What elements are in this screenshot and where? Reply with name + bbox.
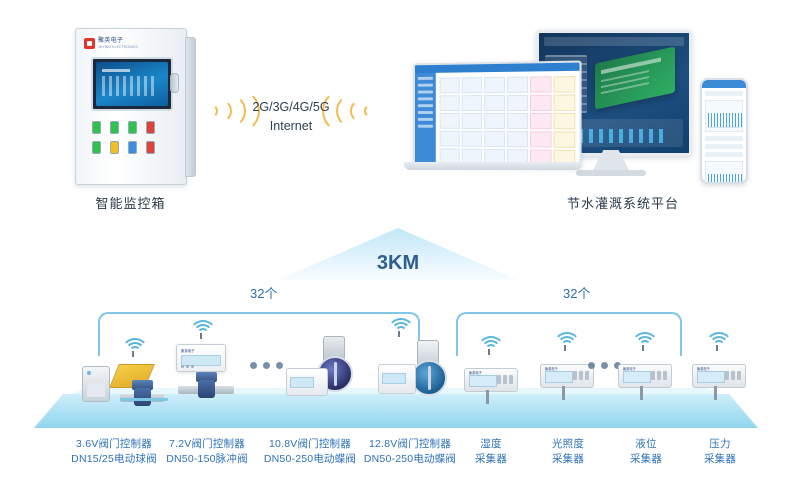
laptop-screen [413, 60, 581, 167]
diagram-canvas: 聚英电子 JUYING ELECTRONICS 智能监控箱 2G/3G [0, 0, 796, 484]
device-pressure-collector: 聚英电子 [692, 348, 748, 398]
phone-app-header [702, 80, 746, 88]
wireless-signal-icon [704, 330, 730, 348]
network-label-line1: 2G/3G/4G/5G [196, 98, 386, 117]
caption-level-collector: 液位 采集器 [611, 437, 681, 467]
controller-enclosure [378, 364, 416, 394]
indicator-led-green [110, 121, 119, 134]
laptop [404, 62, 582, 172]
wireless-signal-icon [476, 334, 502, 352]
cabinet-brand: 聚英电子 JUYING ELECTRONICS [84, 38, 138, 49]
wireless-signal-icon [120, 336, 146, 354]
laptop-app-header [415, 63, 580, 74]
indicator-led-blue [128, 141, 137, 154]
controller-enclosure [82, 366, 110, 402]
phone-app-body [705, 91, 743, 178]
phone-trend-chart [705, 161, 743, 184]
valve-group-count: 32个 [245, 283, 282, 302]
controller-enclosure [286, 368, 328, 396]
more-devices-ellipsis-left [250, 362, 283, 369]
monitor-base [576, 170, 646, 176]
caption-humidity-collector: 湿度 采集器 [456, 437, 526, 467]
laptop-data-grid [438, 74, 578, 163]
wireless-signal-icon [630, 330, 656, 348]
hmi-screen-content [96, 62, 168, 106]
indicator-led-yellow [110, 141, 119, 154]
device-valve-controller-12v8 [378, 330, 450, 398]
device-level-collector: 聚英电子 [618, 348, 674, 398]
caption-illuminance-collector: 光照度 采集器 [533, 437, 603, 467]
sensor-group-count: 32个 [558, 283, 595, 302]
caption-valve-controller-7v2: 7.2V阀门控制器 DN50-150脉冲阀 [155, 437, 259, 467]
more-devices-ellipsis-right [588, 362, 621, 369]
sensor-unit: 聚英电子 [540, 358, 592, 388]
cabinet-caption: 智能监控箱 [48, 193, 213, 212]
smart-control-cabinet: 聚英电子 JUYING ELECTRONICS [75, 28, 187, 185]
platform-caption: 节水灌溉系统平台 [498, 193, 748, 212]
wireless-signal-icon [552, 330, 578, 348]
cabinet-indicator-panel [92, 121, 170, 154]
phone-trend-chart [705, 100, 743, 132]
caption-valve-controller-12v8: 12.8V阀门控制器 DN50-250电动蝶阀 [358, 437, 462, 467]
dashboard-header-bar [544, 37, 684, 46]
brand-name: 聚英电子 [98, 38, 138, 45]
device-valve-controller-3v6 [78, 352, 174, 398]
wireless-link-group: 2G/3G/4G/5G Internet [196, 78, 386, 150]
sensor-unit: 聚英电子 [618, 358, 670, 388]
caption-pressure-collector: 压力 采集器 [685, 437, 755, 467]
controller-enclosure: 聚英电子 [176, 344, 226, 372]
indicator-led-green [128, 121, 137, 134]
wireless-signal-icon [188, 318, 214, 336]
indicator-led-red [146, 141, 155, 154]
caption-valve-controller-3v6: 3.6V阀门控制器 DN15/25电动球阀 [62, 437, 166, 467]
device-humidity-collector: 聚英电子 [464, 350, 520, 398]
coverage-range-label: 3KM [278, 252, 518, 275]
indicator-led-green [92, 141, 101, 154]
network-label-line2: Internet [196, 117, 386, 136]
sensor-unit: 聚英电子 [692, 358, 744, 388]
laptop-app-sidebar [415, 73, 436, 163]
device-illuminance-collector: 聚英电子 [540, 348, 596, 398]
laptop-base [404, 162, 582, 170]
wireless-signal-icon [386, 316, 412, 334]
device-valve-controller-10v8 [286, 336, 356, 398]
network-label: 2G/3G/4G/5G Internet [196, 98, 386, 136]
electric-ball-valve [120, 380, 164, 410]
field-3d-map [595, 46, 675, 109]
cabinet-hmi-screen [91, 57, 173, 111]
caption-valve-controller-10v8: 10.8V阀门控制器 DN50-250电动蝶阀 [258, 437, 362, 467]
cabinet-door-handle [170, 73, 179, 93]
sensor-unit: 聚英电子 [464, 362, 516, 392]
pipe-water-line [120, 398, 168, 401]
brand-subtitle: JUYING ELECTRONICS [98, 45, 138, 49]
mobile-phone [700, 78, 748, 184]
pulse-valve [178, 372, 234, 402]
company-logo-icon [84, 38, 95, 49]
indicator-led-red [146, 121, 155, 134]
indicator-led-green [92, 121, 101, 134]
